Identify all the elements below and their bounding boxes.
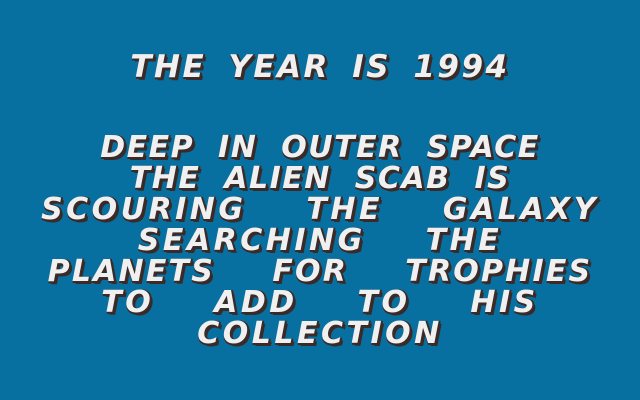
story-line: DEEP IN OUTER SPACE — [0, 132, 640, 163]
story-line: SCOURING THE GALAXY — [0, 194, 640, 225]
intro-title: THE YEAR IS 1994 — [0, 52, 640, 83]
story-line: COLLECTION — [0, 318, 640, 349]
story-line: PLANETS FOR TROPHIES — [0, 256, 640, 287]
intro-screen[interactable]: THE YEAR IS 1994 DEEP IN OUTER SPACE THE… — [0, 0, 640, 400]
story-line: SEARCHING THE — [0, 225, 640, 256]
intro-story-text: DEEP IN OUTER SPACE THE ALIEN SCAB IS SC… — [0, 132, 640, 349]
story-line: THE ALIEN SCAB IS — [0, 163, 640, 194]
story-line: TO ADD TO HIS — [0, 287, 640, 318]
